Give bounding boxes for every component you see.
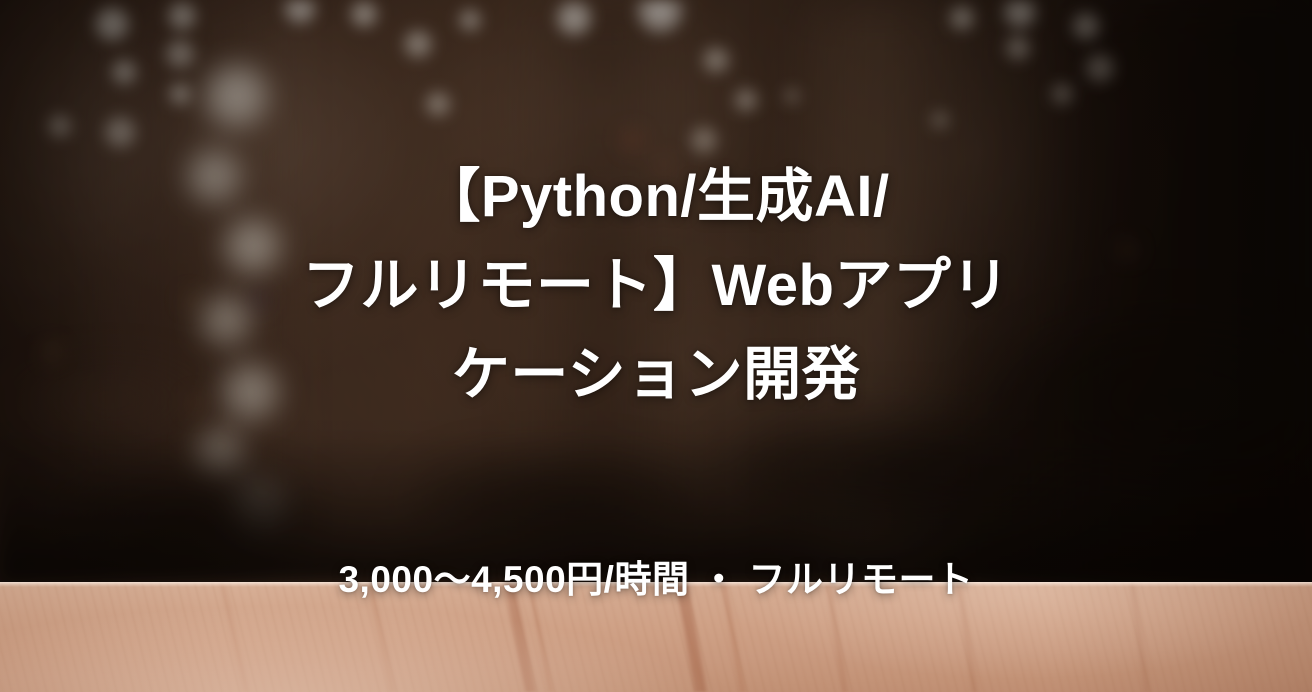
banner-subtitle: 3,000〜4,500円/時間 ・ フルリモート bbox=[0, 555, 1312, 605]
job-posting-banner: 【Python/生成AI/ フルリモート】Webアプリ ケーション開発 3,00… bbox=[0, 0, 1312, 692]
banner-title: 【Python/生成AI/ フルリモート】Webアプリ ケーション開発 bbox=[0, 152, 1312, 419]
banner-text-layer: 【Python/生成AI/ フルリモート】Webアプリ ケーション開発 3,00… bbox=[0, 0, 1312, 692]
